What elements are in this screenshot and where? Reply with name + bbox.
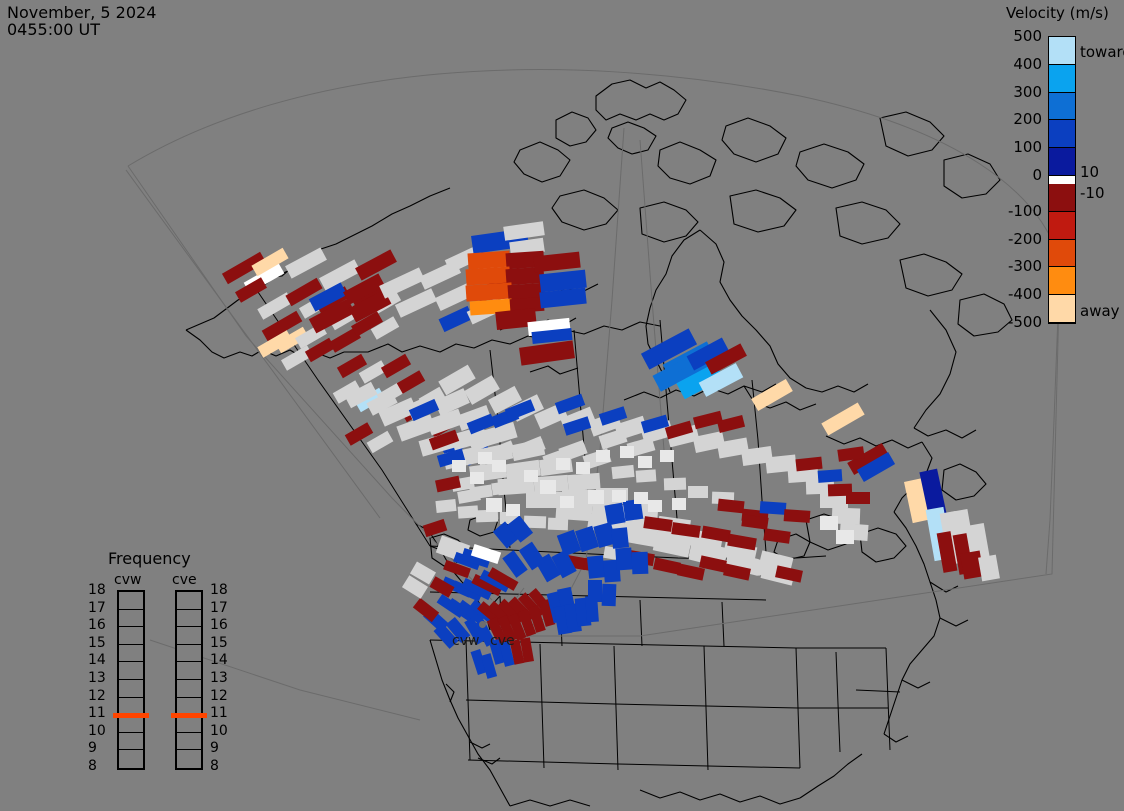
frequency-bar-cvw <box>117 590 145 770</box>
velocity-tick--100: -100 <box>1008 202 1042 220</box>
velocity-band--200 <box>1049 212 1075 240</box>
frequency-scale-label-right-9: 9 <box>210 740 219 756</box>
radar-cell <box>588 490 604 504</box>
radar-cell <box>784 509 811 523</box>
radar-site-dot-cvw <box>479 621 486 628</box>
frequency-marker-cvw <box>113 713 149 718</box>
velocity-tick-100: 100 <box>1013 138 1042 156</box>
frequency-scale-label-left-14: 14 <box>88 652 106 668</box>
frequency-cell-cvw-10 <box>119 733 143 751</box>
frequency-scale-label-right-13: 13 <box>210 670 228 686</box>
frequency-scale-label-right-11: 11 <box>210 705 228 721</box>
velocity-label-positive-small: 10 <box>1080 163 1099 181</box>
frequency-scale-label-left-18: 18 <box>88 582 106 598</box>
frequency-scale-label-right-17: 17 <box>210 600 228 616</box>
radar-cell <box>596 450 610 462</box>
velocity-tick-300: 300 <box>1013 83 1042 101</box>
frequency-cell-cvw-15 <box>119 645 143 663</box>
velocity-colorbar-ticks: 5004003002001000-100-200-300-400-500 <box>930 36 1042 324</box>
radar-cell <box>452 460 466 472</box>
velocity-band-300 <box>1049 93 1075 121</box>
frequency-cell-cvw-14 <box>119 662 143 680</box>
frequency-scale-label-right-16: 16 <box>210 617 228 633</box>
radar-cell <box>632 552 649 575</box>
radar-cell <box>836 530 854 544</box>
radar-cell <box>611 527 629 549</box>
radar-cell <box>760 501 787 515</box>
frequency-cell-cve-16 <box>177 627 201 645</box>
velocity-tick-500: 500 <box>1013 27 1042 45</box>
frequency-cell-cve-10 <box>177 733 201 751</box>
radar-cell <box>602 584 617 606</box>
radar-cell <box>506 504 520 516</box>
velocity-tick--500: -500 <box>1008 313 1042 331</box>
radar-cell <box>540 480 556 494</box>
radar-cell <box>820 516 838 530</box>
frequency-scale-label-left-13: 13 <box>88 670 106 686</box>
radar-cell <box>672 498 686 510</box>
frequency-scale-label-right-8: 8 <box>210 758 219 774</box>
velocity-legend-title: Velocity (m/s) <box>1006 4 1109 22</box>
frequency-scale-label-right-10: 10 <box>210 723 228 739</box>
radar-cell <box>587 555 605 579</box>
radar-cell <box>638 456 652 468</box>
frequency-marker-cve <box>171 713 207 718</box>
radar-cell <box>634 492 648 504</box>
frequency-scale-label-left-8: 8 <box>88 758 97 774</box>
frequency-scale-label-left-16: 16 <box>88 617 106 633</box>
radar-cell <box>620 446 634 458</box>
frequency-cell-cve-9 <box>177 750 201 768</box>
radar-map-figure: November, 5 2024 0455:00 UT cvw cve Velo… <box>0 0 1124 811</box>
frequency-cell-cve-17 <box>177 610 201 628</box>
timestamp-label: November, 5 2024 0455:00 UT <box>7 4 156 38</box>
radar-cell <box>588 580 602 602</box>
radar-site-label-cve: cve <box>490 633 515 649</box>
velocity-tick-400: 400 <box>1013 55 1042 73</box>
frequency-scale-label-right-12: 12 <box>210 688 228 704</box>
frequency-cell-cve-13 <box>177 680 201 698</box>
radar-cell <box>478 452 492 464</box>
radar-cell <box>556 458 570 470</box>
frequency-cell-cve-14 <box>177 662 201 680</box>
frequency-cell-cvw-13 <box>119 680 143 698</box>
frequency-scale-label-right-14: 14 <box>210 652 228 668</box>
velocity-colorbar <box>1048 36 1076 324</box>
frequency-scale-label-right-18: 18 <box>210 582 228 598</box>
velocity-label-negative-small: -10 <box>1080 184 1105 202</box>
radar-fov-outline-group <box>126 70 1060 720</box>
frequency-cell-cvw-17 <box>119 610 143 628</box>
velocity-band--500 <box>1049 295 1075 323</box>
velocity-band-100 <box>1049 148 1075 176</box>
frequency-scale-label-left-15: 15 <box>88 635 106 651</box>
velocity-tick-0: 0 <box>1032 166 1042 184</box>
radar-cell <box>435 499 456 513</box>
radar-cell <box>486 498 502 512</box>
velocity-band-200 <box>1049 120 1075 148</box>
frequency-cell-cve-18 <box>177 592 201 610</box>
radar-cell <box>717 499 744 514</box>
radar-cell <box>615 547 632 570</box>
radar-cell <box>492 460 506 472</box>
radar-cell <box>818 469 843 483</box>
radar-site-label-cvw: cvw <box>452 633 479 649</box>
velocity-tick--400: -400 <box>1008 285 1042 303</box>
frequency-scale-label-left-11: 11 <box>88 705 106 721</box>
frequency-bar-label-cve: cve <box>172 572 197 588</box>
radar-cell <box>560 496 574 508</box>
frequency-scale-label-left-12: 12 <box>88 688 106 704</box>
radar-cell <box>846 492 870 504</box>
frequency-scale-label-right-15: 15 <box>210 635 228 651</box>
radar-cell <box>611 465 634 479</box>
frequency-scale-label-left-9: 9 <box>88 740 97 756</box>
radar-cell <box>978 555 1000 582</box>
radar-cell <box>524 470 538 482</box>
velocity-band-0 <box>1049 176 1075 184</box>
frequency-cell-cvw-9 <box>119 750 143 768</box>
radar-cell <box>664 478 686 491</box>
radar-cell <box>688 486 708 498</box>
radar-cell <box>470 472 484 484</box>
frequency-scale-label-left-17: 17 <box>88 600 106 616</box>
frequency-cell-cve-15 <box>177 645 201 663</box>
velocity-band--400 <box>1049 267 1075 295</box>
frequency-scale-label-left-10: 10 <box>88 723 106 739</box>
velocity-label-away: away <box>1080 302 1120 320</box>
velocity-tick--300: -300 <box>1008 257 1042 275</box>
radar-cell <box>636 469 657 482</box>
frequency-cell-cvw-18 <box>119 592 143 610</box>
frequency-bar-label-cvw: cvw <box>114 572 141 588</box>
radar-cell <box>660 450 674 462</box>
radar-cell <box>612 490 626 502</box>
frequency-bar-cve <box>175 590 203 770</box>
frequency-cell-cvw-16 <box>119 627 143 645</box>
radar-cell <box>548 518 568 531</box>
frequency-legend-title: Frequency <box>108 549 191 568</box>
velocity-band-500 <box>1049 37 1075 65</box>
radar-cell <box>648 500 662 512</box>
radar-cell <box>576 462 590 474</box>
velocity-band-400 <box>1049 65 1075 93</box>
velocity-band--100 <box>1049 184 1075 212</box>
velocity-band--300 <box>1049 240 1075 268</box>
velocity-tick-200: 200 <box>1013 110 1042 128</box>
velocity-tick--200: -200 <box>1008 230 1042 248</box>
velocity-label-toward: toward <box>1080 43 1124 61</box>
